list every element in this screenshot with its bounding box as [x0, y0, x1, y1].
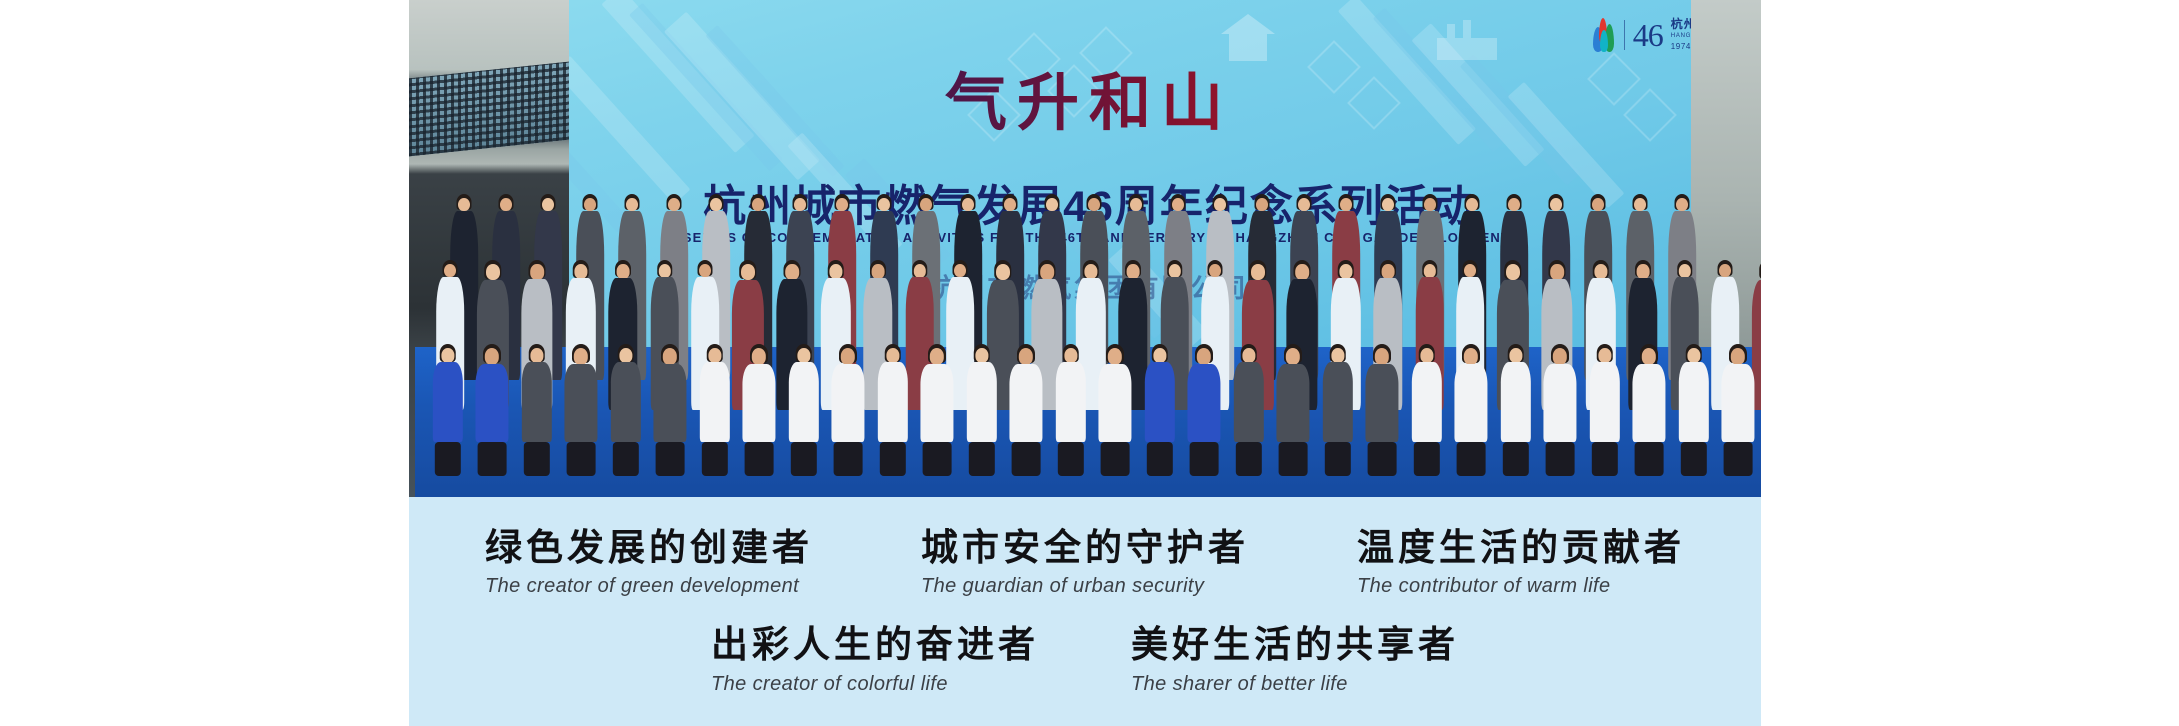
slogan-en: The contributor of warm life: [1357, 575, 1685, 598]
event-wordmark: 气升和山: [415, 52, 1761, 142]
slogan-urban-security: 城市安全的守护者 The guardian of urban security: [921, 527, 1249, 598]
person: [787, 344, 820, 476]
slogan-cn: 绿色发展的创建者: [485, 527, 813, 568]
person: [652, 344, 688, 476]
person: [609, 344, 642, 476]
slogan-warm-life: 温度生活的贡献者 The contributor of warm life: [1357, 527, 1685, 598]
flame-icon: [1590, 18, 1616, 52]
slogan-colorful-life: 出彩人生的奋进者 The creator of colorful life: [711, 624, 1039, 695]
slogan-cn: 出彩人生的奋进者: [711, 624, 1039, 665]
slogan-en: The sharer of better life: [1131, 673, 1459, 696]
person: [1410, 344, 1443, 476]
page-root: 中国 · 杭州 HANGZHOU CHINA 46 杭州燃气 HANGZHOU …: [0, 0, 2179, 726]
person: [520, 344, 553, 476]
anniversary-number: 46: [1633, 19, 1663, 51]
person: [1054, 344, 1087, 476]
person: [1499, 344, 1532, 476]
slogan-en: The creator of green development: [485, 575, 813, 598]
person: [1631, 344, 1667, 476]
person: [830, 344, 866, 476]
person: [474, 344, 510, 476]
slogan-en: The creator of colorful life: [711, 673, 1039, 696]
slogan-row-2: 出彩人生的奋进者 The creator of colorful life 美好…: [409, 598, 1761, 695]
slogan-en: The guardian of urban security: [921, 575, 1249, 598]
person: [1588, 344, 1621, 476]
person: [698, 344, 731, 476]
person: [965, 344, 998, 476]
person: [1097, 344, 1133, 476]
slogan-green-development: 绿色发展的创建者 The creator of green developmen…: [485, 527, 813, 598]
person: [1275, 344, 1311, 476]
person: [1453, 344, 1489, 476]
slogan-cn: 温度生活的贡献者: [1357, 527, 1685, 568]
person: [1232, 344, 1265, 476]
person: [563, 344, 599, 476]
person: [919, 344, 955, 476]
slogan-row-1: 绿色发展的创建者 The creator of green developmen…: [409, 497, 1761, 598]
person: [1677, 344, 1710, 476]
slogan-section: 绿色发展的创建者 The creator of green developmen…: [409, 497, 1761, 726]
person: [1321, 344, 1354, 476]
person: [1542, 344, 1578, 476]
person: [741, 344, 777, 476]
person: [1008, 344, 1044, 476]
slogan-better-life: 美好生活的共享者 The sharer of better life: [1131, 624, 1459, 695]
event-photo: 中国 · 杭州 HANGZHOU CHINA 46 杭州燃气 HANGZHOU …: [409, 0, 1761, 497]
person: [876, 344, 909, 476]
person: [1143, 344, 1176, 476]
slogan-cn: 城市安全的守护者: [921, 527, 1249, 568]
person: [431, 344, 464, 476]
person: [1364, 344, 1400, 476]
logo-divider: [1624, 20, 1625, 50]
crowd-group: [415, 168, 1761, 497]
person: [1186, 344, 1222, 476]
person: [1720, 344, 1756, 476]
slogan-cn: 美好生活的共享者: [1131, 624, 1459, 665]
content-panel: 中国 · 杭州 HANGZHOU CHINA 46 杭州燃气 HANGZHOU …: [409, 0, 1761, 726]
